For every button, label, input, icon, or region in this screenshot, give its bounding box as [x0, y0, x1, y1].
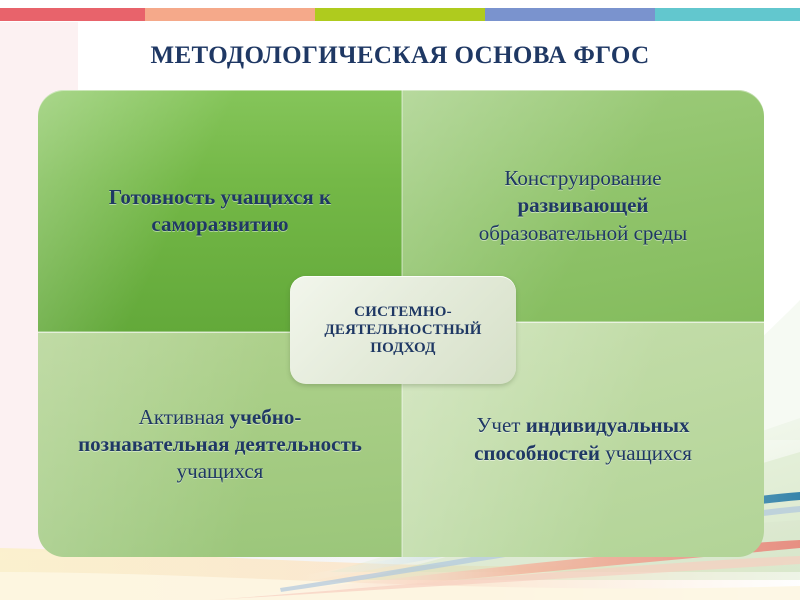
quadrant-activity-text-after: учащихся [177, 459, 264, 483]
quadrant-environment-label: Конструирование развивающей образователь… [479, 165, 688, 247]
quadrant-environment-text-bold: развивающей [517, 193, 648, 217]
quadrant-activity-text-before: Активная [139, 405, 230, 429]
center-line-3: ПОДХОД [370, 340, 435, 356]
center-concept-label: СИСТЕМНО- ДЕЯТЕЛЬНОСТНЫЙ ПОДХОД [324, 303, 481, 358]
quadrant-individual-text-after: учащихся [600, 441, 692, 465]
quadrant-environment-text-before: Конструирование [504, 166, 661, 190]
quadrant-individual-text-before: Учет [477, 413, 526, 437]
top-bar-segment-green [315, 8, 485, 21]
quadrant-readiness-text: Готовность учащихся к саморазвитию [109, 185, 331, 236]
top-bar-segment-salmon [145, 8, 315, 21]
quadrant-activity-label: Активная учебно-познавательная деятельно… [64, 404, 376, 486]
center-line-2: ДЕЯТЕЛЬНОСТНЫЙ [324, 322, 481, 338]
page-title: МЕТОДОЛОГИЧЕСКАЯ ОСНОВА ФГОС [0, 42, 800, 70]
center-concept-box[interactable]: СИСТЕМНО- ДЕЯТЕЛЬНОСТНЫЙ ПОДХОД [290, 276, 516, 384]
top-bar-segment-teal [655, 8, 800, 21]
quadrant-readiness-label: Готовность учащихся к саморазвитию [64, 184, 376, 239]
top-bar-segment-blue [485, 8, 655, 21]
center-line-1: СИСТЕМНО- [354, 304, 452, 320]
slide-canvas: МЕТОДОЛОГИЧЕСКАЯ ОСНОВА ФГОС Готовность … [0, 0, 800, 600]
quadrant-environment-text-after: образовательной среды [479, 221, 688, 245]
top-bar-segment-red [0, 8, 145, 21]
top-color-bar [0, 8, 800, 21]
quadrant-individual-label: Учет индивидуальных способностей учащихс… [428, 412, 738, 467]
